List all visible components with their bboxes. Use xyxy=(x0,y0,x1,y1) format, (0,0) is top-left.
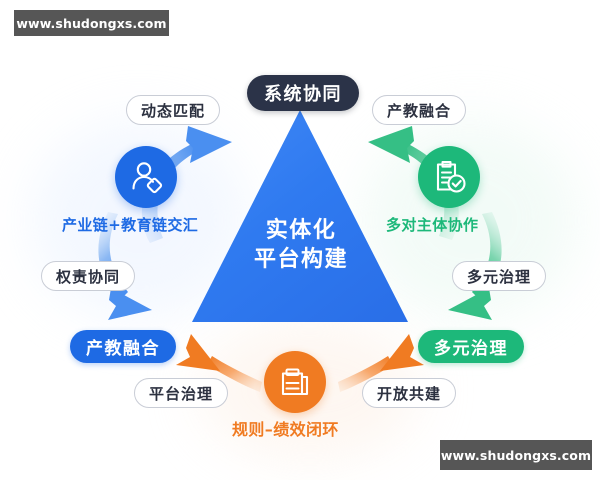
node-icon-bottom[interactable] xyxy=(264,351,326,413)
label-industry-education-integration-top-text: 产教融合 xyxy=(387,100,451,121)
label-dynamic-matching[interactable]: 动态匹配 xyxy=(126,95,220,125)
badge-diversified-governance-label: 多元治理 xyxy=(434,334,508,359)
document-check-icon xyxy=(430,158,468,196)
watermark-top: www.shudongxs.com xyxy=(14,10,169,36)
label-platform-governance-text: 平台治理 xyxy=(149,383,213,404)
label-open-co-construction-text: 开放共建 xyxy=(377,383,441,404)
label-responsibility-coordination[interactable]: 权责协同 xyxy=(41,261,135,291)
badge-system-coordination[interactable]: 系统协同 xyxy=(247,75,359,111)
caption-left: 产业链+教育链交汇 xyxy=(62,214,198,235)
badge-diversified-governance[interactable]: 多元治理 xyxy=(418,330,524,363)
node-icon-left[interactable] xyxy=(115,146,177,208)
label-open-co-construction[interactable]: 开放共建 xyxy=(362,378,456,408)
badge-system-coordination-label: 系统协同 xyxy=(264,80,342,106)
label-industry-education-integration-top[interactable]: 产教融合 xyxy=(372,95,466,125)
label-dynamic-matching-text: 动态匹配 xyxy=(141,100,205,121)
label-diversified-governance-middle-text: 多元治理 xyxy=(467,266,531,287)
label-diversified-governance-middle[interactable]: 多元治理 xyxy=(452,261,546,291)
node-icon-right[interactable] xyxy=(418,146,480,208)
caption-bottom: 规则–绩效闭环 xyxy=(232,416,339,440)
label-responsibility-coordination-text: 权责协同 xyxy=(56,266,120,287)
infographic-stage: 实体化 平台构建 系统协同 动态匹配 产教融合 权责协同 多元治理 平台治理 开… xyxy=(0,0,600,480)
users-icon xyxy=(127,158,165,196)
caption-right: 多对主体协作 xyxy=(386,214,478,235)
watermark-bottom: www.shudongxs.com xyxy=(440,440,592,470)
badge-industry-education-integration[interactable]: 产教融合 xyxy=(70,330,176,363)
contract-icon xyxy=(277,364,313,400)
badge-industry-education-integration-label: 产教融合 xyxy=(86,334,160,359)
label-platform-governance[interactable]: 平台治理 xyxy=(134,378,228,408)
